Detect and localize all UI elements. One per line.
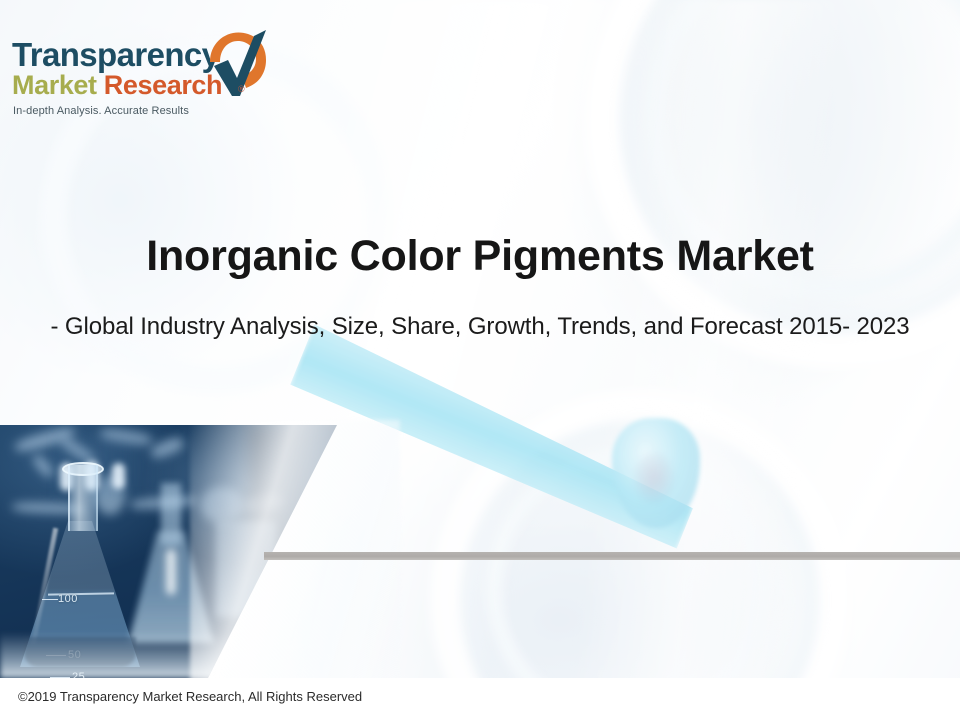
graduation-label-100: 100 (58, 593, 78, 605)
logo-tagline: In-depth Analysis. Accurate Results (13, 105, 189, 117)
background-flask (128, 483, 214, 643)
logo-transparency-text: Transparency (12, 38, 219, 71)
copyright-text: ©2019 Transparency Market Research, All … (18, 689, 362, 704)
graduation-tick (42, 599, 58, 600)
background-flask-highlight (166, 549, 176, 595)
logo-market-research-text: Market Research (12, 72, 222, 99)
divider-rule (264, 552, 960, 560)
registered-trademark-icon: ® (238, 84, 245, 94)
presentation-slide: 100 50 25 Transparency Market Research I… (0, 0, 960, 720)
footer-band: ©2019 Transparency Market Research, All … (0, 678, 960, 720)
checkmark-swoosh-icon (198, 26, 274, 108)
logo-market-text: Market (12, 70, 97, 100)
page-subtitle: - Global Industry Analysis, Size, Share,… (0, 313, 960, 341)
company-logo[interactable]: Transparency Market Research In-depth An… (12, 26, 272, 126)
page-title: Inorganic Color Pigments Market (0, 232, 960, 281)
